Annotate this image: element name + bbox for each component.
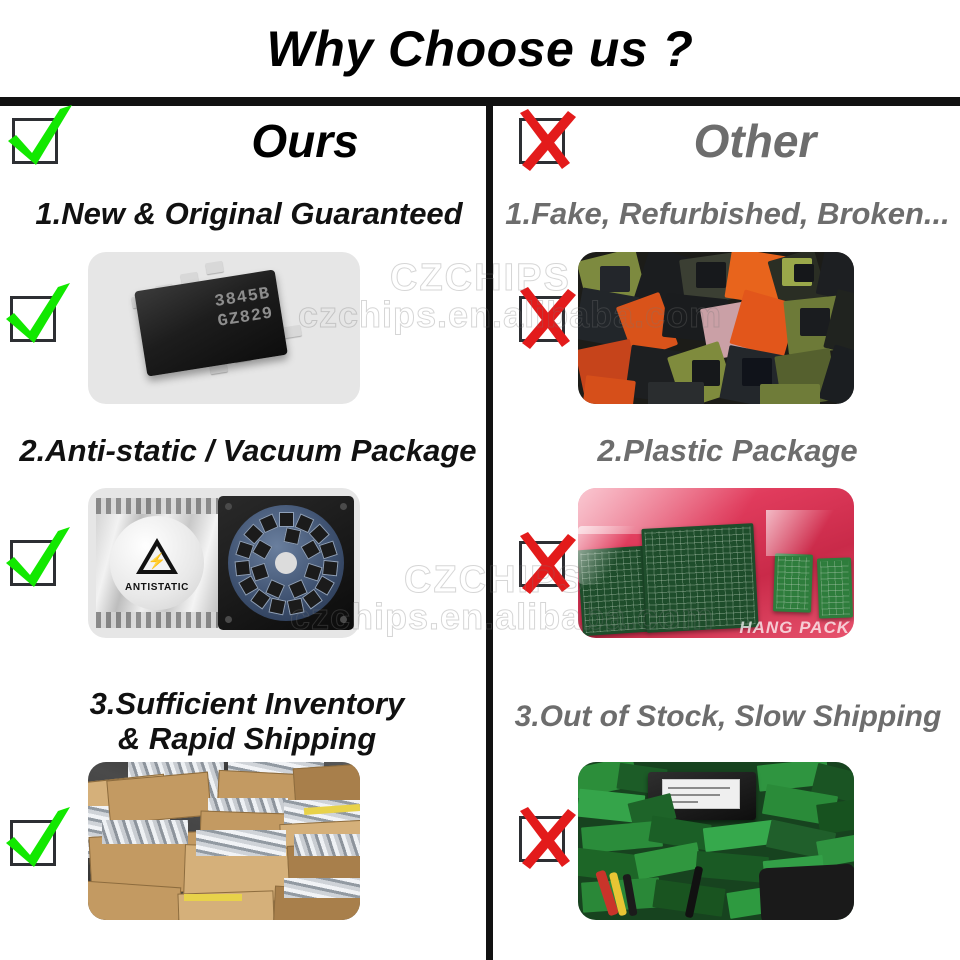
component-reel bbox=[228, 505, 344, 621]
reel-tray bbox=[218, 496, 354, 630]
column-header-other: Other bbox=[600, 110, 910, 172]
watermark-brand-top: CZCHIPS bbox=[390, 257, 571, 300]
antistatic-bag: ⚡ ANTISTATIC bbox=[96, 498, 218, 628]
row-3-label-ours-line-1: 3.Sufficient Inventory bbox=[90, 686, 405, 721]
checkbox-outline-header bbox=[12, 118, 58, 164]
row-1-label-other: 1.Fake, Refurbished, Broken... bbox=[500, 197, 955, 232]
checkbox-outline-row-2 bbox=[10, 540, 56, 586]
checkbox-outline-row-3 bbox=[10, 820, 56, 866]
row-3-label-ours: 3.Sufficient Inventory & Rapid Shipping bbox=[12, 687, 482, 756]
lightning-bolt-icon: ⚡ bbox=[148, 554, 167, 569]
antistatic-label-disc: ⚡ ANTISTATIC bbox=[110, 516, 204, 610]
row-3-label-other: 3.Out of Stock, Slow Shipping bbox=[498, 700, 958, 734]
crossbox-outline-row-2 bbox=[519, 541, 565, 587]
page-title: Why Choose us ? bbox=[0, 24, 960, 74]
row-2-label-ours: 2.Anti-static / Vacuum Package bbox=[10, 434, 486, 469]
row-2-label-other: 2.Plastic Package bbox=[500, 434, 955, 469]
photo-boxes-with-antistatic-bags bbox=[88, 762, 360, 920]
header-divider-rule bbox=[0, 97, 960, 106]
crossbox-outline-row-1 bbox=[519, 296, 565, 342]
checkbox-outline-row-1 bbox=[10, 296, 56, 342]
photo-antistatic-bag-and-reel: ⚡ ANTISTATIC bbox=[88, 488, 360, 638]
photo-pcb-in-pink-bag: HANG PACK bbox=[578, 488, 854, 638]
antistatic-text: ANTISTATIC bbox=[110, 582, 204, 593]
crossbox-outline-row-3 bbox=[519, 816, 565, 862]
row-1-label-ours: 1.New & Original Guaranteed bbox=[14, 197, 484, 232]
column-header-ours: Ours bbox=[140, 110, 470, 172]
column-divider bbox=[486, 106, 493, 960]
row-3-label-ours-line-2: & Rapid Shipping bbox=[118, 721, 376, 756]
photo-green-scrap-pcb-pile bbox=[578, 762, 854, 920]
photo-soic-chip: 3845B GZ829 bbox=[88, 252, 360, 404]
hang-pack-text: HANG PACK bbox=[739, 618, 850, 638]
crossbox-outline-header bbox=[519, 118, 565, 164]
photo-scrap-cpu-pile bbox=[578, 252, 854, 404]
module-label bbox=[662, 779, 740, 809]
